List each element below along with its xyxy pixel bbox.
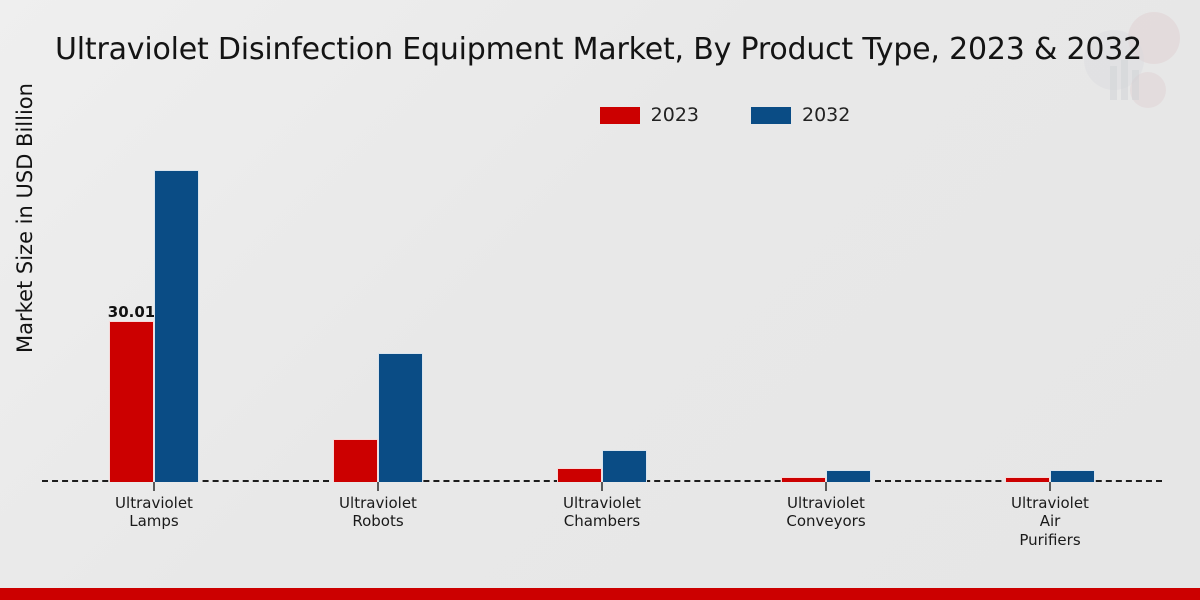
category-label-line: Air xyxy=(1040,512,1061,530)
bar-2023[interactable]: 30.01 xyxy=(109,321,154,482)
category-label-line: Robots xyxy=(352,512,403,530)
bar-group: UltravioletChambers xyxy=(490,150,714,482)
bar-2032[interactable] xyxy=(826,470,871,482)
category-label-line: Ultraviolet xyxy=(339,494,417,512)
legend-label-2032: 2032 xyxy=(802,104,850,126)
legend-swatch-2032 xyxy=(751,107,791,124)
bar-2032[interactable] xyxy=(1050,470,1095,482)
bar-pair xyxy=(557,150,647,482)
chart-page: Ultraviolet Disinfection Equipment Marke… xyxy=(0,0,1200,600)
legend-swatch-2023 xyxy=(600,107,640,124)
bar-pair xyxy=(333,150,423,482)
x-axis-tick xyxy=(153,482,155,491)
bar-groups: 30.01UltravioletLampsUltravioletRobotsUl… xyxy=(42,150,1162,482)
x-axis-tick xyxy=(825,482,827,491)
category-label-line: Ultraviolet xyxy=(563,494,641,512)
legend-item-2023[interactable]: 2023 xyxy=(600,104,699,126)
chart-title: Ultraviolet Disinfection Equipment Marke… xyxy=(55,32,1165,67)
y-axis-title: Market Size in USD Billion xyxy=(13,53,37,383)
legend-item-2032[interactable]: 2032 xyxy=(751,104,850,126)
bar-2032[interactable] xyxy=(154,170,199,482)
bar-2023[interactable] xyxy=(557,468,602,482)
category-label: UltravioletChambers xyxy=(563,494,641,531)
x-axis-tick xyxy=(377,482,379,491)
category-label-line: Ultraviolet xyxy=(115,494,193,512)
category-label-line: Ultraviolet xyxy=(787,494,865,512)
category-label: UltravioletRobots xyxy=(339,494,417,531)
x-axis-tick xyxy=(1049,482,1051,491)
bar-2023[interactable] xyxy=(333,439,378,482)
category-label: UltravioletAirPurifiers xyxy=(1011,494,1089,549)
category-label: UltravioletConveyors xyxy=(786,494,865,531)
footer-band xyxy=(0,588,1200,600)
category-label-line: Purifiers xyxy=(1019,531,1080,549)
plot-area: 30.01UltravioletLampsUltravioletRobotsUl… xyxy=(42,150,1162,482)
bar-pair xyxy=(781,150,871,482)
legend-label-2023: 2023 xyxy=(651,104,699,126)
category-label-line: Chambers xyxy=(564,512,641,530)
bar-pair xyxy=(1005,150,1095,482)
bar-group: UltravioletAirPurifiers xyxy=(938,150,1162,482)
bar-pair: 30.01 xyxy=(109,150,199,482)
bar-2032[interactable] xyxy=(378,353,423,482)
category-label-line: Conveyors xyxy=(786,512,865,530)
bar-value-label: 30.01 xyxy=(108,303,155,321)
bar-group: 30.01UltravioletLamps xyxy=(42,150,266,482)
category-label-line: Ultraviolet xyxy=(1011,494,1089,512)
bar-2023[interactable] xyxy=(1005,477,1050,482)
chart-legend: 2023 2032 xyxy=(125,104,1200,126)
category-label-line: Lamps xyxy=(129,512,179,530)
x-axis-tick xyxy=(601,482,603,491)
bar-group: UltravioletConveyors xyxy=(714,150,938,482)
bar-2032[interactable] xyxy=(602,450,647,482)
bar-group: UltravioletRobots xyxy=(266,150,490,482)
bar-2023[interactable] xyxy=(781,477,826,482)
category-label: UltravioletLamps xyxy=(115,494,193,531)
